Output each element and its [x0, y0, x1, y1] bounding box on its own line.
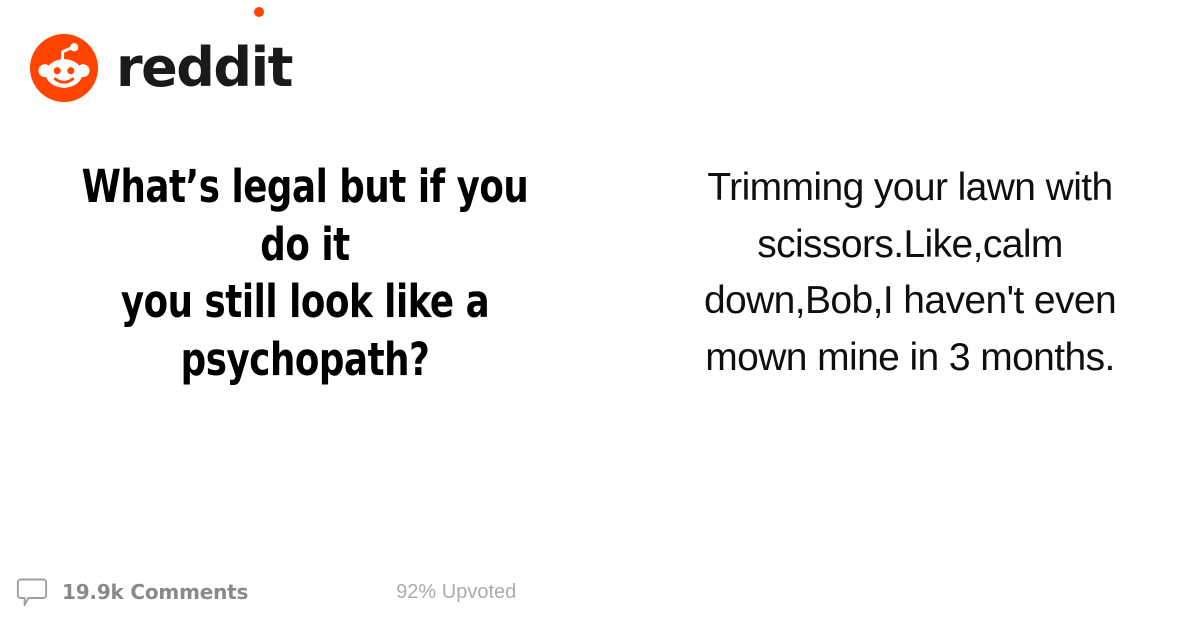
- reddit-wordmark: reddit: [116, 41, 292, 95]
- wordmark-text-c: t: [268, 41, 292, 95]
- reddit-snoo-icon: [30, 34, 98, 102]
- wordmark-dot-icon: [254, 7, 264, 17]
- comment-line: down,Bob,I haven't even: [660, 273, 1160, 330]
- wordmark-text-a: redd: [116, 41, 251, 95]
- comments-button[interactable]: 19.9k Comments: [16, 576, 248, 608]
- post-stats-bar: 19.9k Comments 92% Upvoted: [16, 576, 556, 608]
- upvote-percentage-label: 92% Upvoted: [396, 581, 516, 604]
- reddit-post-card: reddit What’s legal but if you do it you…: [0, 0, 1200, 630]
- post-title-line: you still look like a: [54, 273, 556, 331]
- reddit-brand-logo[interactable]: reddit: [30, 34, 292, 102]
- comments-count-label: 19.9k Comments: [62, 580, 248, 604]
- wordmark-text-b: i: [251, 36, 268, 99]
- wordmark-dotted-i: i: [251, 41, 268, 95]
- post-title-line: What’s legal but if you do it: [54, 158, 556, 273]
- top-comment-text: Trimming your lawn with scissors.Like,ca…: [660, 160, 1160, 386]
- comment-line: mown mine in 3 months.: [660, 330, 1160, 387]
- comment-line: Trimming your lawn with: [660, 160, 1160, 217]
- comment-line: scissors.Like,calm: [660, 217, 1160, 274]
- speech-bubble-icon: [16, 576, 48, 608]
- post-title-line: psychopath?: [54, 331, 556, 389]
- post-title: What’s legal but if you do it you still …: [54, 158, 556, 388]
